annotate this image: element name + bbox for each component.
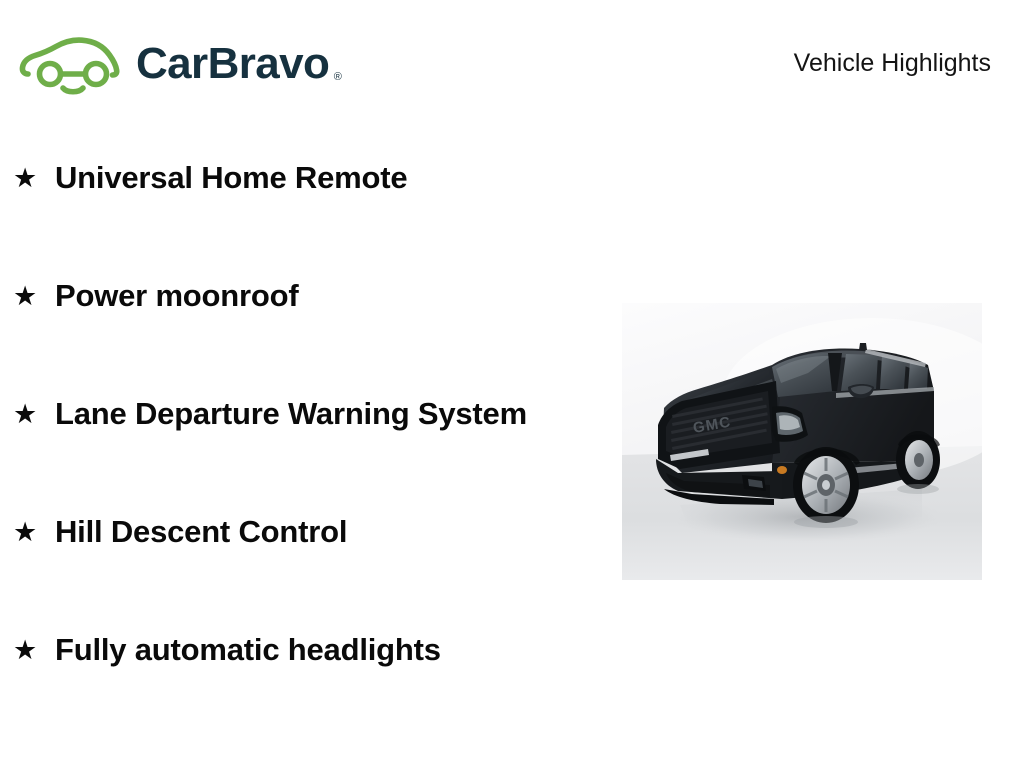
vehicle-photo-graphic: 0% [622, 303, 982, 580]
list-item: ★ Power moonroof [0, 273, 600, 391]
highlight-label: Power moonroof [55, 273, 535, 318]
list-item: ★ Universal Home Remote [0, 155, 600, 273]
vehicle-photo: 0% [622, 303, 982, 580]
highlight-label: Lane Departure Warning System [55, 391, 535, 436]
star-bullet-icon: ★ [13, 160, 37, 196]
list-item: ★ Hill Descent Control [0, 509, 600, 627]
star-bullet-icon: ★ [13, 514, 37, 550]
star-bullet-icon: ★ [13, 396, 37, 432]
highlight-label: Universal Home Remote [55, 155, 535, 200]
page-title: Vehicle Highlights [794, 50, 991, 78]
car-logo-icon [18, 32, 134, 96]
star-bullet-icon: ★ [13, 632, 37, 668]
vehicle-highlights-list: ★ Universal Home Remote ★ Power moonroof… [0, 155, 600, 745]
star-bullet-icon: ★ [13, 278, 37, 314]
brand-name-text: CarBravo [136, 39, 329, 88]
list-item: ★ Fully automatic headlights [0, 627, 600, 745]
page-header: CarBravo® Vehicle Highlights [0, 0, 1024, 130]
list-item: ★ Lane Departure Warning System [0, 391, 600, 509]
brand-wordmark: CarBravo® [136, 42, 341, 86]
registered-trademark-icon: ® [334, 72, 342, 83]
brand-logo[interactable]: CarBravo® [18, 32, 341, 96]
highlight-label: Hill Descent Control [55, 509, 535, 554]
highlight-label: Fully automatic headlights [55, 627, 535, 672]
